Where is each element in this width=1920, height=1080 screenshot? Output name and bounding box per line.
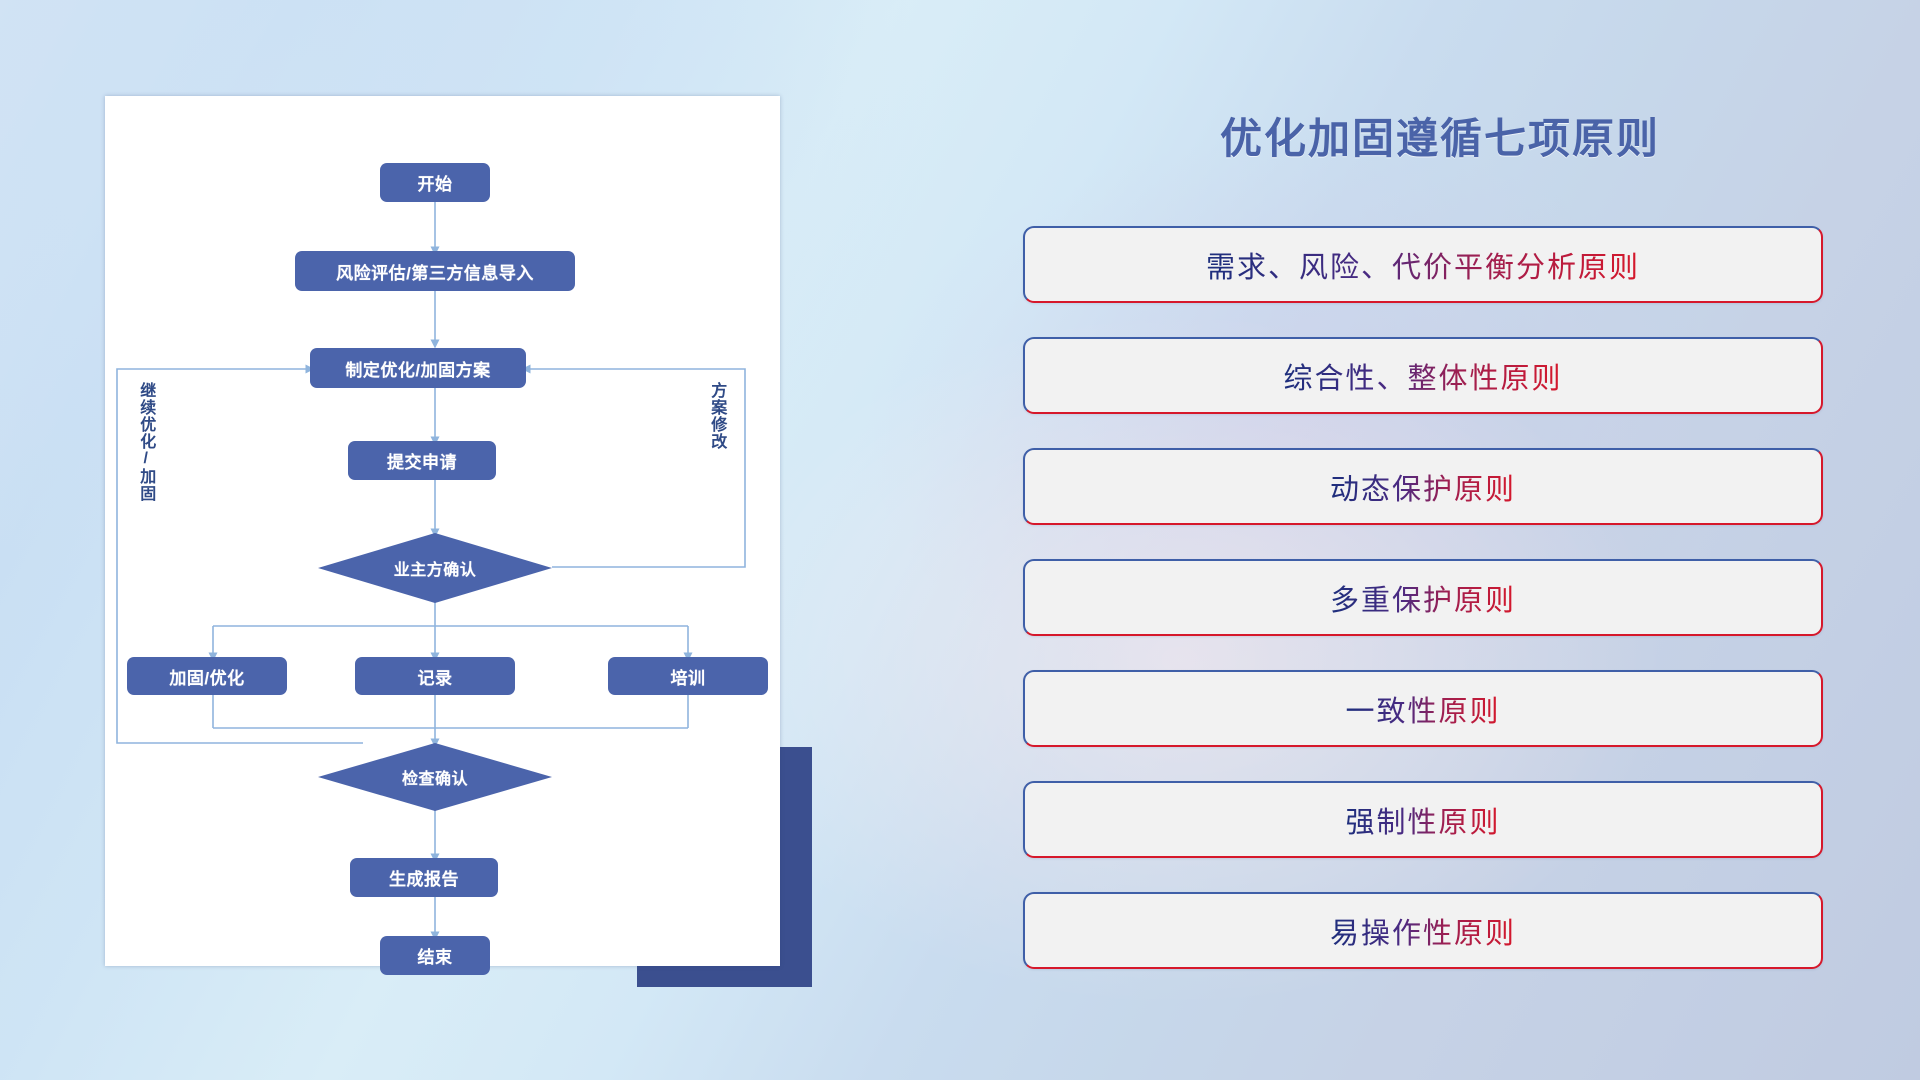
principle-item[interactable]: 强制性原则 xyxy=(1023,781,1823,858)
flowchart: 开始 风险评估/第三方信息导入 制定优化/加固方案 提交申请 业主方确认 加固/… xyxy=(105,96,780,966)
flow-node-generate-report[interactable]: 生成报告 xyxy=(350,858,498,897)
edge-label-continue-optimize: 继续优化/加固 xyxy=(137,382,154,562)
flow-node-make-plan[interactable]: 制定优化/加固方案 xyxy=(310,348,526,388)
principle-label: 需求、风险、代价平衡分析原则 xyxy=(1206,244,1640,286)
principle-item[interactable]: 综合性、整体性原则 xyxy=(1023,337,1823,414)
flow-node-record[interactable]: 记录 xyxy=(355,657,515,695)
flow-node-training[interactable]: 培训 xyxy=(608,657,768,695)
flow-node-reinforce-optimize[interactable]: 加固/优化 xyxy=(127,657,287,695)
flow-node-start[interactable]: 开始 xyxy=(380,163,490,202)
slide-canvas: 开始 风险评估/第三方信息导入 制定优化/加固方案 提交申请 业主方确认 加固/… xyxy=(0,0,1920,1080)
principle-item[interactable]: 需求、风险、代价平衡分析原则 xyxy=(1023,226,1823,303)
principle-item[interactable]: 一致性原则 xyxy=(1023,670,1823,747)
principle-item[interactable]: 多重保护原则 xyxy=(1023,559,1823,636)
flow-node-end[interactable]: 结束 xyxy=(380,936,490,975)
principle-label: 综合性、整体性原则 xyxy=(1283,355,1562,397)
principle-item[interactable]: 易操作性原则 xyxy=(1023,892,1823,969)
panel-title: 优化加固遵循七项原则 xyxy=(1020,105,1860,166)
principles-panel: 优化加固遵循七项原则 需求、风险、代价平衡分析原则 综合性、整体性原则 动态保护… xyxy=(1020,0,1860,1080)
flow-node-submit-application[interactable]: 提交申请 xyxy=(348,441,496,480)
principle-label: 强制性原则 xyxy=(1345,799,1500,841)
principle-label: 一致性原则 xyxy=(1345,688,1500,730)
flow-node-owner-confirm[interactable]: 业主方确认 xyxy=(318,533,552,603)
principles-list: 需求、风险、代价平衡分析原则 综合性、整体性原则 动态保护原则 多重保护原则 一… xyxy=(1023,226,1823,1003)
principle-label: 多重保护原则 xyxy=(1330,577,1516,619)
flow-node-owner-confirm-label: 业主方确认 xyxy=(318,533,552,603)
principle-item[interactable]: 动态保护原则 xyxy=(1023,448,1823,525)
principle-label: 动态保护原则 xyxy=(1330,466,1516,508)
edge-label-plan-revision: 方案修改 xyxy=(708,382,725,522)
flowchart-card: 开始 风险评估/第三方信息导入 制定优化/加固方案 提交申请 业主方确认 加固/… xyxy=(105,96,780,966)
principle-label: 易操作性原则 xyxy=(1330,910,1516,952)
flow-node-risk-assessment[interactable]: 风险评估/第三方信息导入 xyxy=(295,251,575,291)
flow-node-check-confirm[interactable]: 检查确认 xyxy=(318,743,552,811)
flow-node-check-confirm-label: 检查确认 xyxy=(318,743,552,811)
flowchart-connectors xyxy=(105,96,780,966)
